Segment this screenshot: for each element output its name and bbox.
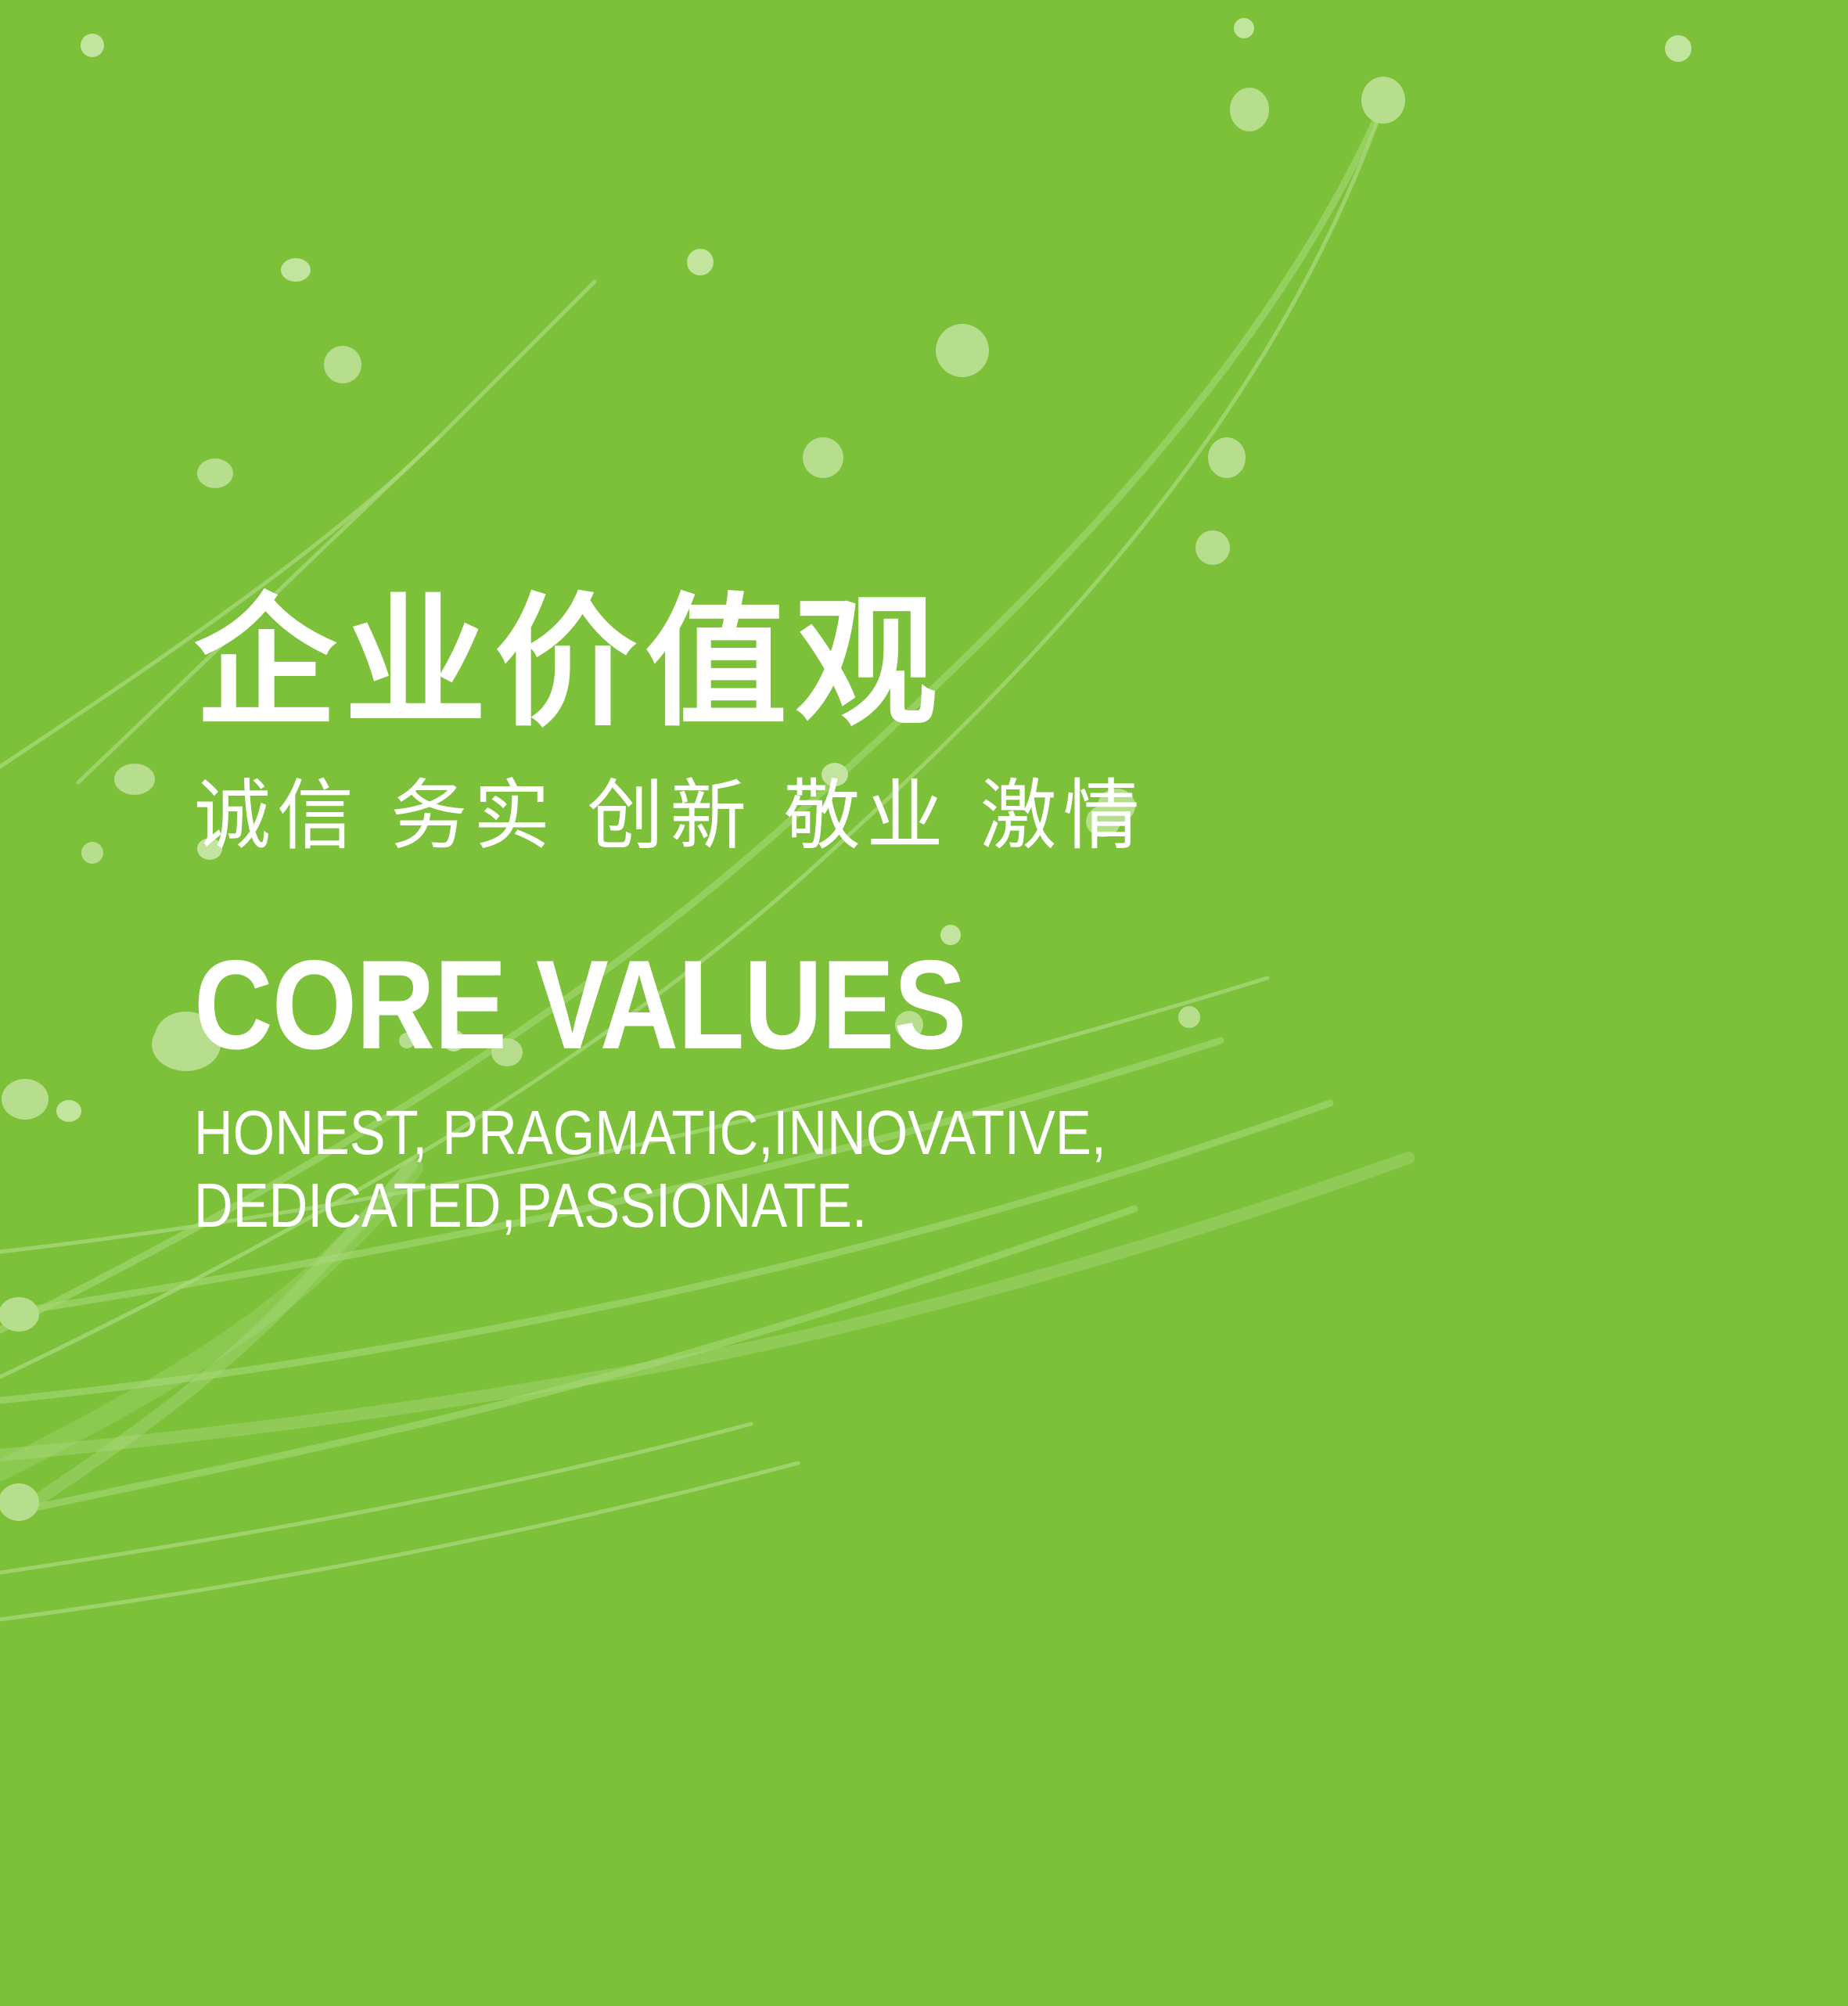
headline-block: 企业价值观 诚信 务实 创新 敬业 激情 CORE VALUES HONEST,… [194, 591, 1681, 1242]
subtitle-english-line-2: DEDICATED,PASSIONATE. [194, 1170, 1472, 1242]
subtitle-chinese-values: 诚信 务实 创新 敬业 激情 [194, 778, 1681, 854]
page-title-english: CORE VALUES [194, 942, 1472, 1069]
page-title-chinese: 企业价值观 [194, 591, 1681, 734]
subtitle-english-line-1: HONEST, PRAGMATIC,INNOVATIVE, [194, 1097, 1472, 1170]
core-values-poster: .ln { fill:none; stroke:#a9da7c; stroke-… [0, 0, 1848, 2006]
subtitle-english-values: HONEST, PRAGMATIC,INNOVATIVE, DEDICATED,… [194, 1097, 1472, 1242]
